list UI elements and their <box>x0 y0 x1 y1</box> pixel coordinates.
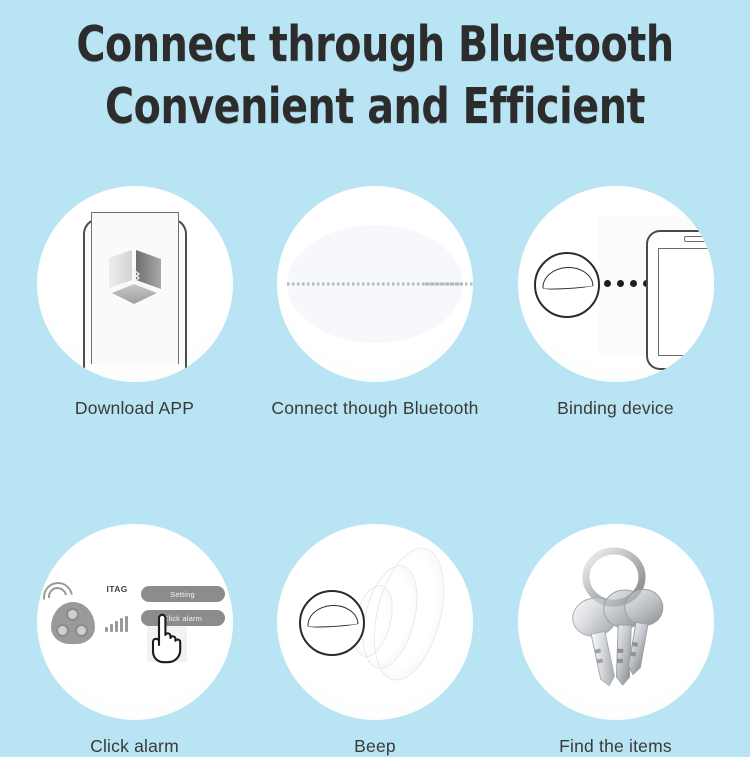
steps-row-top: Download APP Connect though Bluetooth <box>0 186 750 419</box>
setting-button[interactable]: Setting <box>141 586 225 602</box>
pointing-hand-cursor-icon <box>147 612 183 664</box>
step-click-alarm: ITAG Setting Click alarm Click alarm <box>32 524 237 757</box>
dotted-line-segment-right <box>425 283 473 286</box>
step-illustration-download-app <box>37 186 233 382</box>
headline-line-2: Convenient and Efficient <box>38 76 713 138</box>
step-illustration-click-alarm: ITAG Setting Click alarm <box>37 524 233 720</box>
tracker-tag-icon <box>299 590 365 656</box>
step-download-app: Download APP <box>32 186 237 419</box>
tracker-tag-filled-icon <box>51 602 95 644</box>
device-name-label: ITAG <box>107 584 128 594</box>
step-connect-bluetooth: Connect though Bluetooth <box>273 186 478 419</box>
phone-speaker-icon <box>684 236 714 242</box>
keys-on-keyring-icon <box>536 537 696 707</box>
headline-line-1: Connect through Bluetooth <box>38 14 713 76</box>
phone-screen <box>658 248 714 356</box>
promo-graphic: Connect through Bluetooth Convenient and… <box>0 0 750 750</box>
step-illustration-find-items <box>518 524 714 720</box>
step-illustration-connect-bluetooth <box>277 186 473 382</box>
step-beep: Beep <box>273 524 478 757</box>
step-illustration-binding-device <box>518 186 714 382</box>
step-caption: Beep <box>354 736 396 757</box>
tracker-tag-icon <box>534 252 600 318</box>
steps-grid: Download APP Connect though Bluetooth <box>0 186 750 757</box>
bluetooth-cube-app-icon <box>105 248 165 312</box>
step-illustration-beep <box>277 524 473 720</box>
step-caption: Click alarm <box>90 736 179 757</box>
step-caption: Binding device <box>557 398 674 419</box>
step-caption: Download APP <box>75 398 194 419</box>
page-title: Connect through Bluetooth Convenient and… <box>0 14 750 138</box>
signal-strength-bars-icon <box>105 616 128 632</box>
step-caption: Find the items <box>559 736 672 757</box>
step-find-items: Find the items <box>513 524 718 757</box>
step-binding-device: Binding device <box>513 186 718 419</box>
steps-row-bottom: ITAG Setting Click alarm Click alarm <box>0 524 750 757</box>
step-caption: Connect though Bluetooth <box>271 398 478 419</box>
